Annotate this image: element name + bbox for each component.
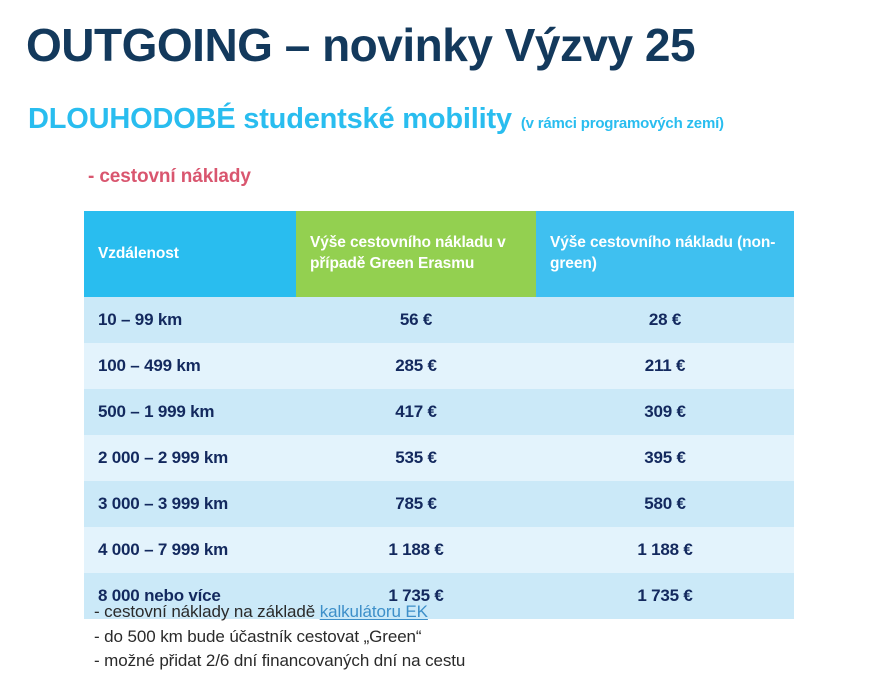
cell-distance: 3 000 – 3 999 km bbox=[84, 481, 296, 527]
cell-green: 285 € bbox=[296, 343, 536, 389]
cell-nongreen: 1 735 € bbox=[536, 573, 794, 619]
table-row: 10 – 99 km 56 € 28 € bbox=[84, 297, 794, 343]
table-header-row: Vzdálenost Výše cestovního nákladu v pří… bbox=[84, 211, 794, 297]
cell-nongreen: 211 € bbox=[536, 343, 794, 389]
subtitle-note: (v rámci programových zemí) bbox=[521, 115, 724, 132]
table-row: 3 000 – 3 999 km 785 € 580 € bbox=[84, 481, 794, 527]
table-row: 2 000 – 2 999 km 535 € 395 € bbox=[84, 435, 794, 481]
column-header-non-green: Výše cestovního nákladu (non-green) bbox=[536, 211, 794, 297]
table-row: 4 000 – 7 999 km 1 188 € 1 188 € bbox=[84, 527, 794, 573]
cell-nongreen: 580 € bbox=[536, 481, 794, 527]
cell-nongreen: 28 € bbox=[536, 297, 794, 343]
footnote-line-1: - cestovní náklady na základě kalkulátor… bbox=[94, 600, 465, 625]
cell-green: 785 € bbox=[296, 481, 536, 527]
subtitle-main: DLOUHODOBÉ studentské mobility bbox=[28, 103, 512, 136]
bullet-label: cestovní náklady bbox=[99, 166, 251, 188]
subtitle-row: DLOUHODOBÉ studentské mobility (v rámci … bbox=[28, 103, 724, 136]
table-row: 100 – 499 km 285 € 211 € bbox=[84, 343, 794, 389]
footnote-line-3: - možné přidat 2/6 dní financovaných dní… bbox=[94, 649, 465, 674]
footnote-1-prefix: - cestovní náklady na základě bbox=[94, 602, 320, 621]
column-header-distance: Vzdálenost bbox=[84, 211, 296, 297]
table-row: 500 – 1 999 km 417 € 309 € bbox=[84, 389, 794, 435]
cell-green: 535 € bbox=[296, 435, 536, 481]
footnote-line-2: - do 500 km bude účastník cestovat „Gree… bbox=[94, 625, 465, 650]
cell-green: 417 € bbox=[296, 389, 536, 435]
cell-green: 1 188 € bbox=[296, 527, 536, 573]
cell-distance: 100 – 499 km bbox=[84, 343, 296, 389]
table-body: 10 – 99 km 56 € 28 € 100 – 499 km 285 € … bbox=[84, 297, 794, 619]
cell-nongreen: 309 € bbox=[536, 389, 794, 435]
travel-cost-table: Vzdálenost Výše cestovního nákladu v pří… bbox=[84, 211, 794, 619]
cell-distance: 500 – 1 999 km bbox=[84, 389, 296, 435]
table-header: Vzdálenost Výše cestovního nákladu v pří… bbox=[84, 211, 794, 297]
cell-distance: 4 000 – 7 999 km bbox=[84, 527, 296, 573]
kalkulator-ek-link[interactable]: kalkulátoru EK bbox=[320, 602, 428, 621]
column-header-green-erasmus: Výše cestovního nákladu v případě Green … bbox=[296, 211, 536, 297]
footnotes: - cestovní náklady na základě kalkulátor… bbox=[94, 600, 465, 674]
cell-nongreen: 1 188 € bbox=[536, 527, 794, 573]
cell-nongreen: 395 € bbox=[536, 435, 794, 481]
cell-distance: 10 – 99 km bbox=[84, 297, 296, 343]
page-title: OUTGOING – novinky Výzvy 25 bbox=[26, 20, 695, 71]
bullet-cestovni-naklady: - cestovní náklady bbox=[88, 166, 251, 188]
cell-distance: 2 000 – 2 999 km bbox=[84, 435, 296, 481]
bullet-dash-icon: - bbox=[88, 166, 94, 188]
cell-green: 56 € bbox=[296, 297, 536, 343]
